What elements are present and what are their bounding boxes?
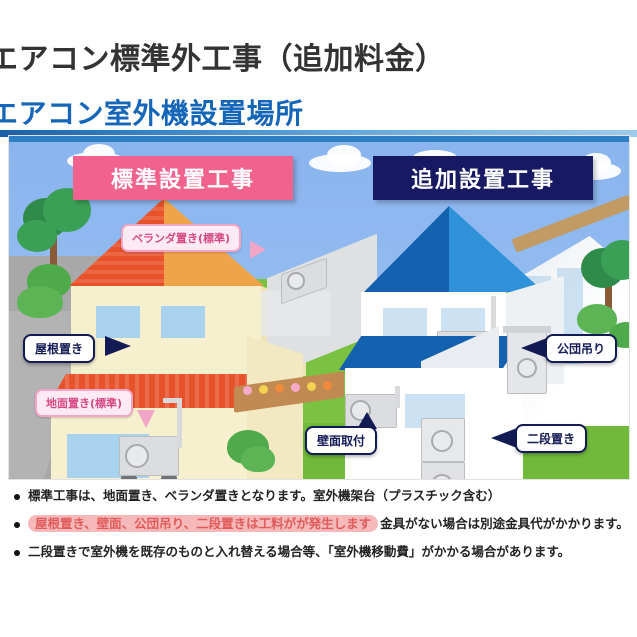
outdoor-unit-fan-icon	[517, 358, 537, 378]
callout-ground-tail	[137, 410, 155, 428]
notes-list: 標準工事は、地面置き、ベランダ置きとなります。室外機架台（プラスチック含む） 屋…	[0, 488, 637, 572]
banner-label: 追加設置工事	[411, 162, 555, 194]
note-text: 金具がない場合は別途金具代がかかります。	[380, 516, 629, 531]
banner-additional-install: 追加設置工事	[373, 156, 593, 200]
note-text-wrap: 屋根置き、壁面、公団吊り、二段置きは工料がが発生します金具がない場合は別途金具代…	[28, 516, 637, 533]
bush	[241, 446, 275, 472]
note-item: 屋根置き、壁面、公団吊り、二段置きは工料がが発生します金具がない場合は別途金具代…	[0, 516, 637, 533]
diagram-top-bar	[9, 136, 629, 142]
callout-two-tier-tail	[491, 428, 517, 448]
flower-icon	[275, 384, 284, 393]
flower-icon	[243, 386, 252, 395]
note-highlight: 屋根置き、壁面、公団吊り、二段置きは工料がが発生します	[28, 515, 378, 532]
callout-label: 壁面取付	[317, 432, 365, 449]
callout-label: 地面置き(標準)	[46, 395, 122, 411]
cloud-icon	[327, 145, 361, 165]
hanging-bracket	[503, 326, 551, 333]
note-item: 二段置きで室外機を既存のものと入れ替える場合等、「室外機移動費」がかかる場合があ…	[0, 544, 637, 561]
tree-foliage	[17, 220, 57, 252]
outdoor-unit-fan-icon	[431, 430, 453, 452]
note-text: 二段置きで室外機を既存のものと入れ替える場合等、「室外機移動費」がかかる場合があ…	[28, 544, 637, 561]
page-title: エアコン標準外工事（追加料金）	[0, 34, 446, 78]
callout-roof-tail	[105, 336, 131, 356]
installation-diagram: 標準設置工事 追加設置工事 ベランダ置き(標準) 地面置き(標準) 屋根置き 壁…	[8, 135, 630, 480]
bush	[17, 286, 63, 318]
section-title: エアコン室外機設置場所	[0, 92, 304, 132]
callout-ground[interactable]: 地面置き(標準)	[35, 389, 133, 417]
window	[94, 304, 142, 340]
right-building-roof-front	[364, 206, 449, 292]
bullet-icon	[14, 522, 20, 528]
note-text: 標準工事は、地面置き、ベランダ置きとなります。室外機架台（プラスチック含む）	[28, 488, 637, 505]
flower-icon	[307, 382, 316, 391]
outdoor-unit-foot	[161, 476, 177, 480]
right-building-roof-side	[449, 206, 544, 292]
flower-icon	[323, 381, 332, 390]
bullet-icon	[14, 550, 20, 556]
callout-hanging-tail	[521, 338, 547, 358]
flower-icon	[291, 383, 300, 392]
callout-label: ベランダ置き(標準)	[132, 230, 230, 246]
window	[159, 304, 207, 340]
refrigerant-pipe	[177, 398, 182, 448]
callout-hanging[interactable]: 公団吊り	[545, 334, 617, 363]
banner-label: 標準設置工事	[111, 162, 255, 194]
outdoor-unit-fan-icon	[125, 444, 149, 468]
callout-label: 屋根置き	[35, 340, 83, 357]
callout-veranda[interactable]: ベランダ置き(標準)	[121, 224, 241, 252]
callout-two-tier[interactable]: 二段置き	[515, 424, 587, 453]
callout-wall-mount[interactable]: 壁面取付	[305, 426, 377, 455]
bullet-icon	[14, 494, 20, 500]
note-item: 標準工事は、地面置き、ベランダ置きとなります。室外機架台（プラスチック含む）	[0, 488, 637, 505]
page-root: エアコン標準外工事（追加料金） エアコン室外機設置場所	[0, 0, 637, 637]
flower-icon	[259, 385, 268, 394]
outdoor-unit-foot	[121, 476, 137, 480]
refrigerant-pipe-bend	[163, 398, 181, 403]
callout-roof-placement[interactable]: 屋根置き	[23, 334, 95, 363]
banner-standard-install: 標準設置工事	[73, 156, 293, 200]
callout-label: 公団吊り	[557, 340, 605, 357]
callout-label: 二段置き	[527, 430, 575, 447]
refrigerant-pipe	[395, 386, 400, 408]
